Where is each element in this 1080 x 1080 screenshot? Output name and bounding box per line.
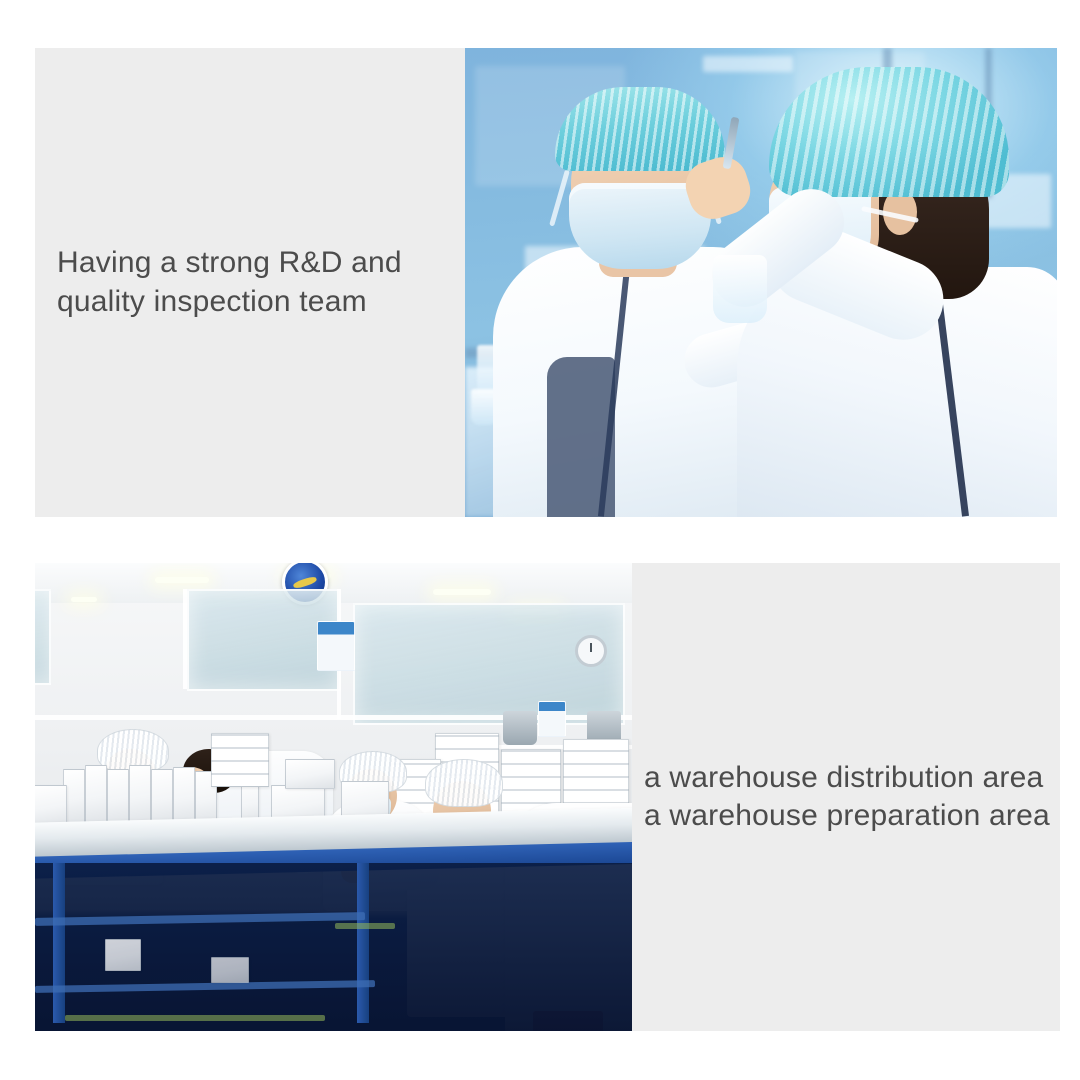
table-leg: [53, 863, 65, 1023]
caption-line-1: a warehouse distribution area: [644, 759, 1050, 797]
steel-container: [503, 711, 537, 745]
interior-window: [35, 589, 51, 685]
bouffant-cap-icon: [769, 67, 1009, 197]
hairnet-icon: [425, 759, 503, 807]
warehouse-packing-photo: [35, 563, 632, 1031]
ceiling-light-icon: [433, 589, 491, 595]
floor-marking: [65, 1015, 325, 1021]
caption-line-2: quality inspection team: [57, 283, 453, 321]
carton: [35, 785, 67, 827]
carton: [151, 769, 173, 825]
window-mullion: [183, 589, 187, 689]
flask-icon: [713, 255, 767, 323]
caption-line-1: Having a strong R&D and: [57, 244, 453, 282]
caption-panel-warehouse: a warehouse distribution area a warehous…: [632, 563, 1060, 1031]
carton: [107, 769, 129, 825]
carton-stack: [211, 733, 269, 787]
section-rnd-quality: Having a strong R&D and quality inspecti…: [35, 48, 1057, 517]
floor-marking: [335, 923, 395, 929]
wall-clock-icon: [575, 635, 607, 667]
carton: [129, 765, 151, 825]
ceiling-light-icon: [71, 597, 97, 602]
carton: [285, 759, 335, 789]
section-warehouse-areas: a warehouse distribution area a warehous…: [35, 563, 1048, 1031]
lab-worker-profile: [737, 48, 1057, 517]
carton-under-table: [211, 957, 249, 983]
carton: [85, 765, 107, 825]
table-leg: [357, 863, 369, 1023]
wall-notice-sign: [538, 701, 566, 737]
lab-quality-inspection-photo: [465, 48, 1057, 517]
caption-panel-rnd: Having a strong R&D and quality inspecti…: [35, 48, 465, 517]
caption-line-2: a warehouse preparation area: [644, 797, 1050, 835]
carton: [173, 767, 195, 825]
page-root: Having a strong R&D and quality inspecti…: [0, 0, 1080, 1080]
carton-under-table: [105, 939, 141, 971]
wall-notice-sign: [317, 621, 355, 671]
ceiling-light-icon: [155, 577, 209, 583]
mask-strap: [549, 169, 570, 226]
